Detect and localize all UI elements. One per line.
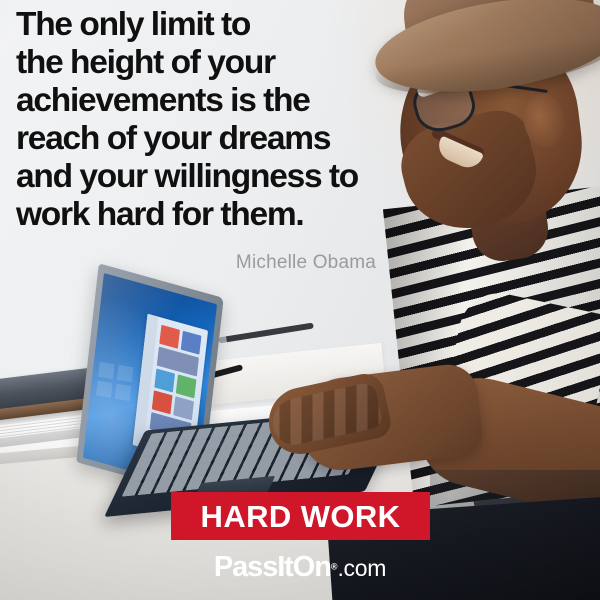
quote-line: achievements is the	[16, 82, 486, 120]
theme-badge: HARD WORK	[171, 492, 430, 540]
quote-poster: The only limit to the height of your ach…	[0, 0, 600, 600]
quote-line: work hard for them.	[16, 196, 486, 234]
quote-line: and your willingness to	[16, 158, 486, 196]
quote-text: The only limit to the height of your ach…	[16, 6, 486, 234]
quote-line: the height of your	[16, 44, 486, 82]
brand-tld: .com	[337, 555, 386, 581]
theme-badge-label: HARD WORK	[201, 501, 401, 532]
brand-logo[interactable]: PassItOn®.com	[0, 551, 600, 584]
brand-name: PassItOn	[214, 551, 331, 583]
quote-line: The only limit to	[16, 6, 486, 44]
quote-author: Michelle Obama	[0, 252, 376, 274]
quote-line: reach of your dreams	[16, 120, 486, 158]
